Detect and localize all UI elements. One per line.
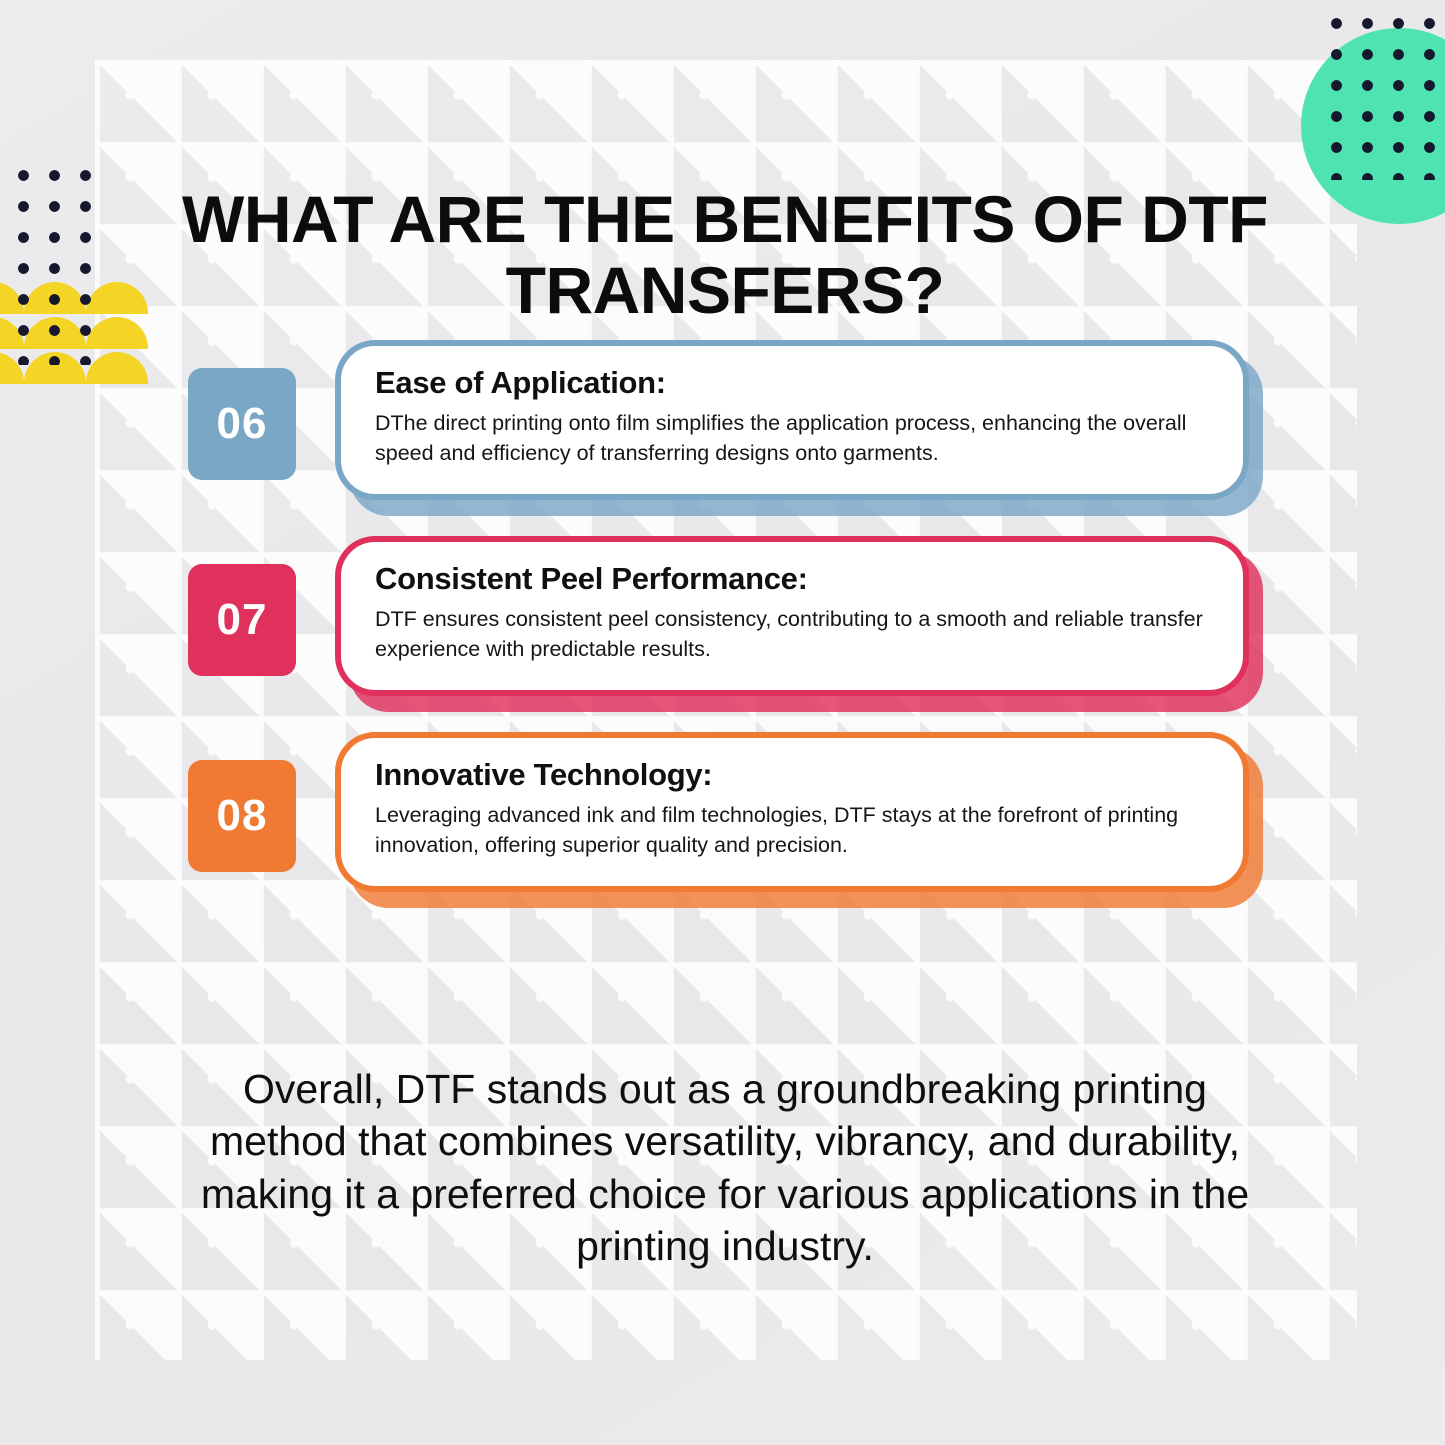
card-panel-wrapper-08: Innovative Technology: Leveraging advanc… — [335, 732, 1263, 908]
card-panel-wrapper-06: Ease of Application: DThe direct printin… — [335, 340, 1263, 516]
card-number-label: 07 — [217, 595, 268, 645]
semicircle-shape — [86, 352, 148, 384]
page-title: WHAT ARE THE BENEFITS OF DTF TRANSFERS? — [170, 184, 1280, 325]
card-title-06: Ease of Application: — [375, 366, 1209, 400]
card-body-06: DThe direct printing onto film simplifie… — [375, 409, 1209, 469]
teal-circle-decoration — [1301, 28, 1445, 224]
card-title-08: Innovative Technology: — [375, 758, 1209, 792]
infographic-poster: WHAT ARE THE BENEFITS OF DTF TRANSFERS? … — [0, 0, 1445, 1445]
benefit-card-07: 07 Consistent Peel Performance: DTF ensu… — [188, 536, 1263, 732]
card-number-badge-08: 08 — [188, 760, 296, 872]
card-title-07: Consistent Peel Performance: — [375, 562, 1209, 596]
semicircle-shape — [0, 282, 24, 314]
semicircle-shape — [0, 352, 24, 384]
card-number-badge-06: 06 — [188, 368, 296, 480]
card-body-07: DTF ensures consistent peel consistency,… — [375, 605, 1209, 665]
benefit-card-08: 08 Innovative Technology: Leveraging adv… — [188, 732, 1263, 928]
closing-paragraph: Overall, DTF stands out as a groundbreak… — [170, 1063, 1280, 1273]
card-panel-wrapper-07: Consistent Peel Performance: DTF ensures… — [335, 536, 1263, 712]
card-number-label: 08 — [217, 791, 268, 841]
card-panel-06: Ease of Application: DThe direct printin… — [335, 340, 1249, 500]
semicircle-row — [0, 352, 152, 384]
semicircle-shape — [86, 317, 148, 349]
card-panel-07: Consistent Peel Performance: DTF ensures… — [335, 536, 1249, 696]
semicircle-shape — [24, 352, 86, 384]
semicircle-shape — [24, 282, 86, 314]
semicircle-shape — [24, 317, 86, 349]
semicircle-row — [0, 282, 152, 314]
benefit-card-list: 06 Ease of Application: DThe direct prin… — [188, 340, 1263, 928]
benefit-card-06: 06 Ease of Application: DThe direct prin… — [188, 340, 1263, 536]
semicircle-shape — [0, 317, 24, 349]
card-number-badge-07: 07 — [188, 564, 296, 676]
card-number-label: 06 — [217, 399, 268, 449]
yellow-half-circles-decoration — [0, 282, 152, 386]
semicircle-row — [0, 317, 152, 349]
card-body-08: Leveraging advanced ink and film technol… — [375, 801, 1209, 861]
semicircle-shape — [86, 282, 148, 314]
card-panel-08: Innovative Technology: Leveraging advanc… — [335, 732, 1249, 892]
